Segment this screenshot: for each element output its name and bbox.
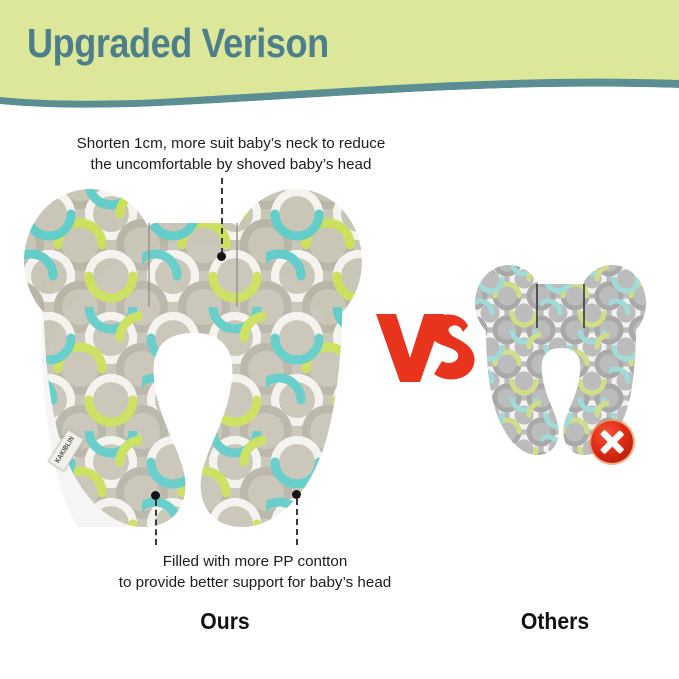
annotation-bottom-line2: to provide better support for baby’s hea… (60, 572, 450, 593)
page-title: Upgraded Verison (27, 19, 329, 67)
ours-pillow-image (18, 183, 368, 538)
annotation-top-line2: the uncomfortable by shoved baby’s head (36, 154, 426, 175)
leader-line-bottom-right (296, 499, 298, 545)
product-comparison-image: Upgraded Verison (0, 0, 679, 679)
leader-dot-bottom-left (151, 491, 160, 500)
leader-dot-bottom-right (292, 490, 301, 499)
reject-x-badge (588, 418, 636, 466)
annotation-top-line1: Shorten 1cm, more suit baby’s neck to re… (36, 133, 426, 154)
leader-dot-top (217, 252, 226, 261)
label-ours: Ours (161, 608, 290, 635)
leader-line-top (221, 178, 223, 254)
header-banner: Upgraded Verison (0, 0, 679, 112)
annotation-top: Shorten 1cm, more suit baby’s neck to re… (36, 133, 426, 175)
annotation-bottom: Filled with more PP contton to provide b… (60, 551, 450, 593)
vs-badge (372, 286, 484, 396)
label-others: Others (491, 608, 620, 635)
annotation-bottom-line1: Filled with more PP contton (60, 551, 450, 572)
leader-line-bottom-left (155, 500, 157, 545)
